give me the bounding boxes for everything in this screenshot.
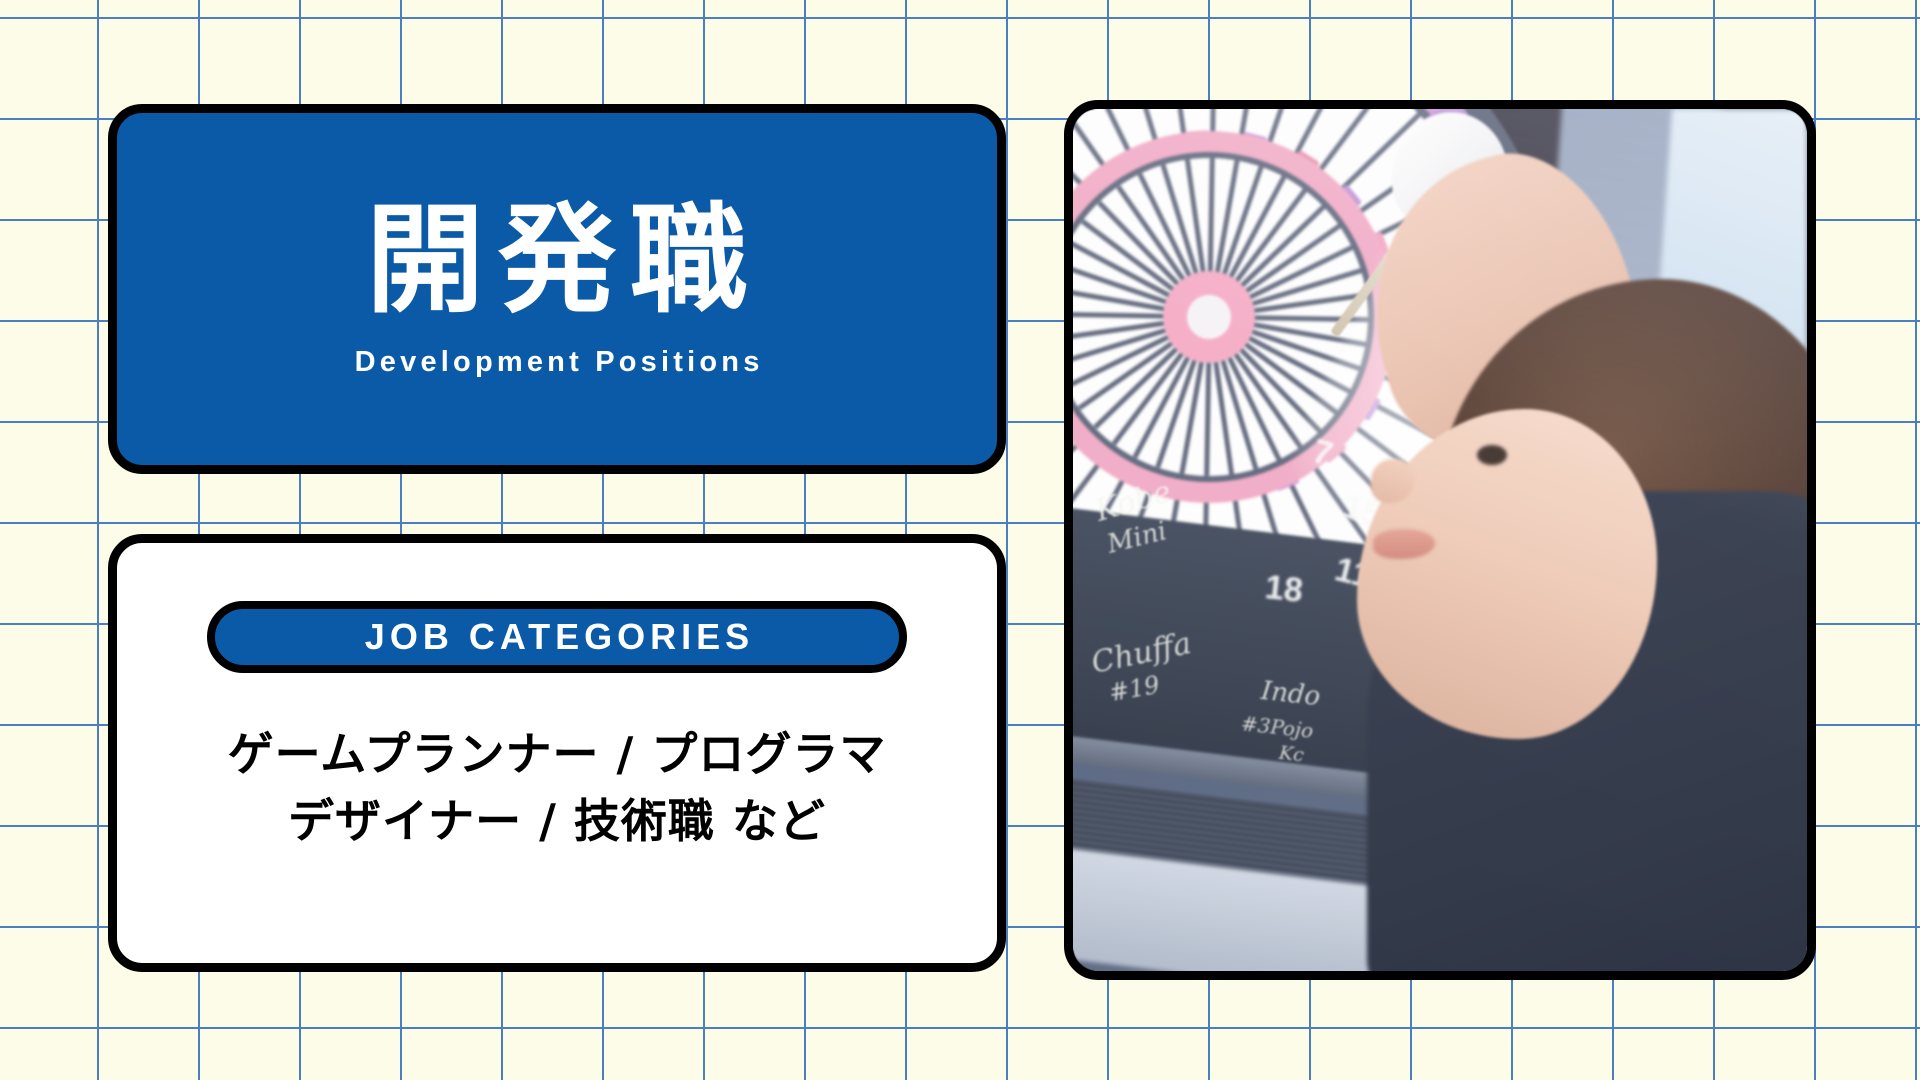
job-categories-card: JOB CATEGORIES ゲームプランナー / プログラマ デザイナー / … <box>108 534 1006 972</box>
page-title: 開発職 <box>352 199 762 322</box>
chalk-note: Indo <box>1260 676 1322 712</box>
board-number: 18 <box>1263 568 1305 611</box>
job-categories-pill-label: JOB CATEGORIES <box>360 616 754 658</box>
job-categories-line: デザイナー / 技術職 など <box>228 788 887 855</box>
photo-card: 18 15 7 11 2 Kobe Mini Chuffa #19 Indo #… <box>1064 100 1816 980</box>
job-categories-line: ゲームプランナー / プログラマ <box>228 721 887 788</box>
title-card: 開発職 Development Positions <box>108 104 1006 474</box>
job-categories-pill: JOB CATEGORIES <box>207 601 907 673</box>
job-categories-list: ゲームプランナー / プログラマ デザイナー / 技術職 など <box>228 721 887 854</box>
darts-photo: 18 15 7 11 2 Kobe Mini Chuffa #19 Indo #… <box>1073 109 1807 971</box>
person-eye <box>1477 445 1507 465</box>
chalk-note: Kc <box>1278 742 1305 766</box>
page-subtitle: Development Positions <box>350 346 763 379</box>
poster-stage: 開発職 Development Positions JOB CATEGORIES… <box>0 0 1920 1080</box>
